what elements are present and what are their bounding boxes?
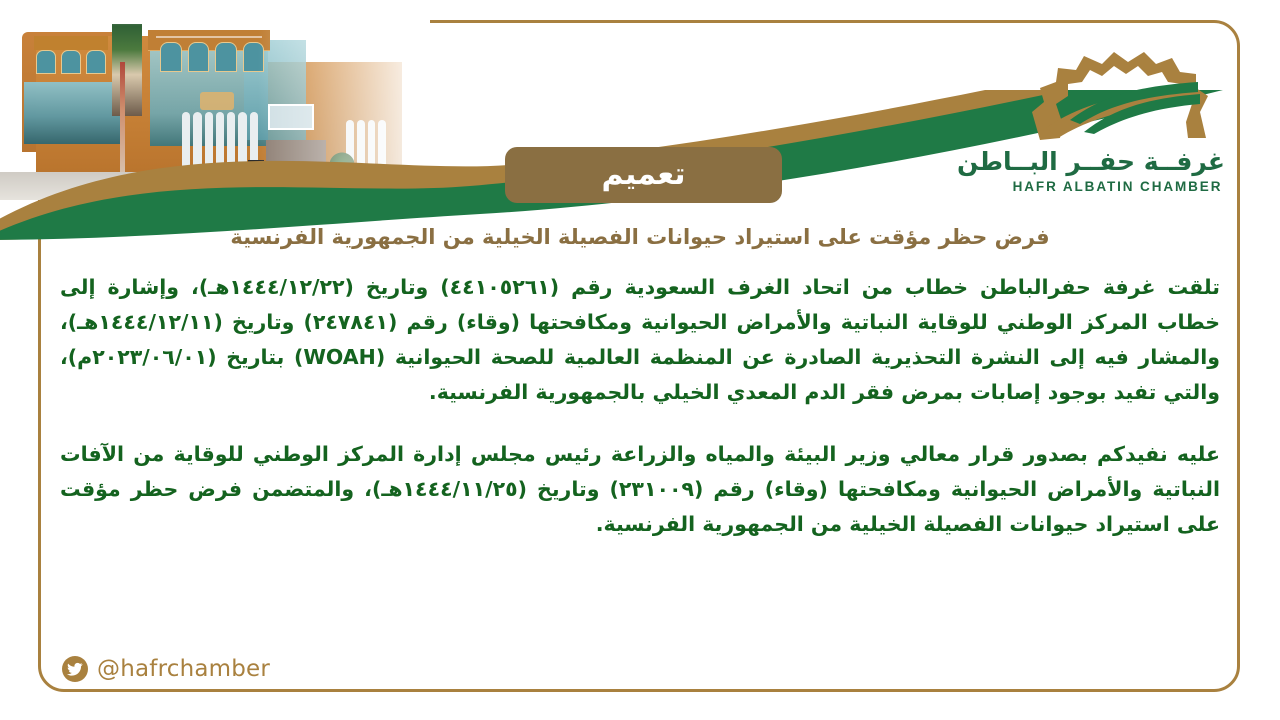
chamber-logo-english-name: HAFR ALBATIN CHAMBER [1010,179,1225,194]
chamber-building-photo [0,0,430,200]
social-twitter-handle[interactable]: @hafrchamber [97,658,270,681]
circular-notice-poster: تعميم غرفــة حفــر البــاطن HAFR ALBATIN… [0,0,1280,720]
notice-paragraph-1: تلقت غرفة حفرالباطن خطاب من اتحاد الغرف … [60,270,1220,411]
social-twitter-link[interactable]: @hafrchamber [62,656,270,682]
chamber-crown-arch-logo-icon [1010,42,1225,147]
chamber-logo: غرفــة حفــر البــاطن HAFR ALBATIN CHAMB… [1010,42,1225,202]
notice-paragraph-2: عليه نفيدكم بصدور قرار معالي وزير البيئة… [60,437,1220,543]
notice-type-badge-label: تعميم [601,160,685,190]
twitter-bird-icon[interactable] [62,656,88,682]
chamber-logo-arabic-name: غرفــة حفــر البــاطن [1010,149,1225,174]
notice-title: فرض حظر مؤقت على استيراد حيوانات الفصيلة… [60,222,1220,254]
notice-type-badge: تعميم [505,147,782,203]
photo-right-fade [0,0,430,200]
notice-content: فرض حظر مؤقت على استيراد حيوانات الفصيلة… [60,222,1220,542]
